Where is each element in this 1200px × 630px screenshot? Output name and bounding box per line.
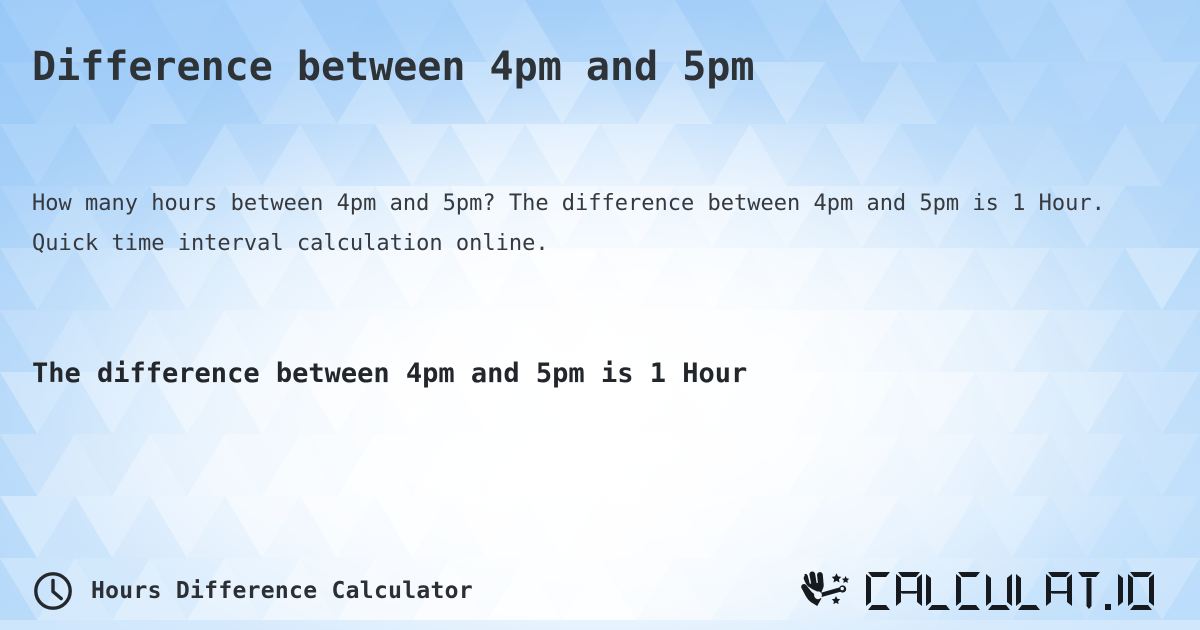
- magic-wand-hand-icon: [796, 568, 858, 614]
- og-image-canvas: Difference between 4pm and 5pm How many …: [0, 0, 1200, 630]
- footer-label: Hours Difference Calculator: [91, 578, 473, 604]
- content-area: Difference between 4pm and 5pm How many …: [0, 0, 1200, 630]
- footer: Hours Difference Calculator: [0, 552, 1200, 630]
- site-logo[interactable]: CALCULAT.IO: [796, 568, 1168, 614]
- result-statement: The difference between 4pm and 5pm is 1 …: [32, 356, 747, 391]
- logo-wordmark: [864, 570, 1164, 612]
- clock-icon: [32, 570, 74, 612]
- intro-paragraph: How many hours between 4pm and 5pm? The …: [32, 184, 1144, 264]
- footer-brand: Hours Difference Calculator: [32, 570, 473, 612]
- page-title: Difference between 4pm and 5pm: [32, 44, 754, 90]
